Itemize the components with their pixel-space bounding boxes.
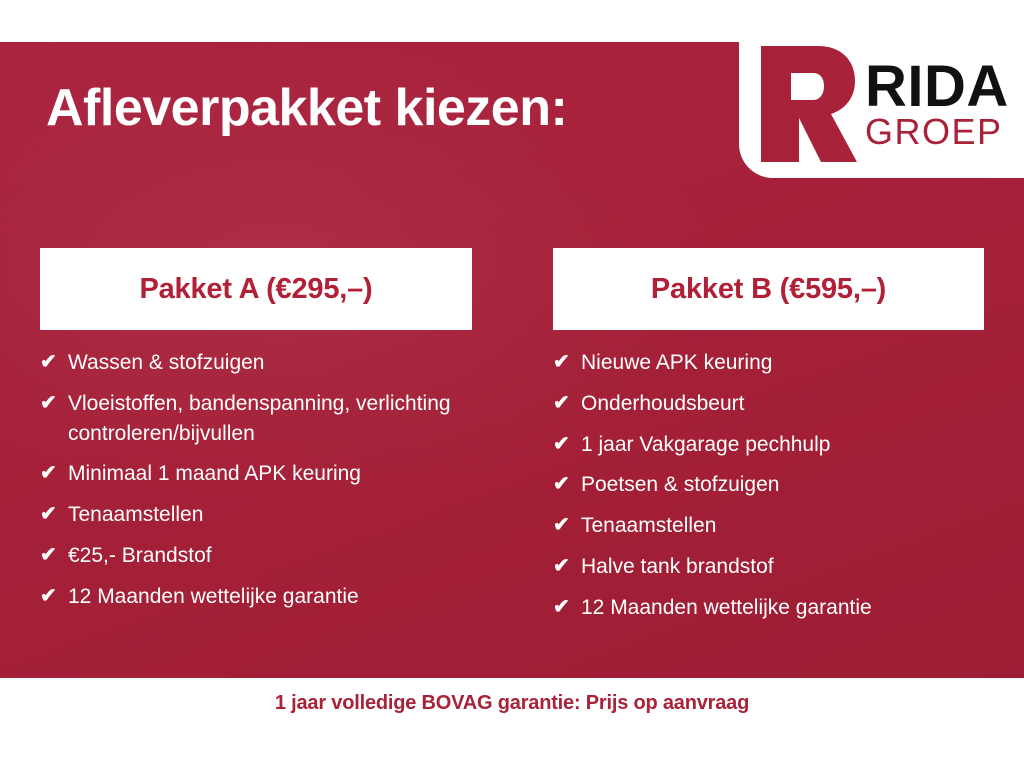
package-a-header: Pakket A (€295,–) <box>40 248 472 330</box>
check-icon: ✔ <box>40 500 68 528</box>
feature-label: Halve tank brandstof <box>581 552 984 582</box>
footer-note: 1 jaar volledige BOVAG garantie: Prijs o… <box>275 692 749 715</box>
list-item: ✔ Poetsen & stofzuigen <box>553 470 984 500</box>
check-icon: ✔ <box>553 430 581 458</box>
check-icon: ✔ <box>553 593 581 621</box>
feature-label: €25,- Brandstof <box>68 541 472 571</box>
check-icon: ✔ <box>553 348 581 376</box>
feature-label: Minimaal 1 maand APK keuring <box>68 459 472 489</box>
package-b-header: Pakket B (€595,–) <box>553 248 984 330</box>
list-item: ✔ 12 Maanden wettelijke garantie <box>553 593 984 623</box>
footer-bar: 1 jaar volledige BOVAG garantie: Prijs o… <box>0 678 1024 768</box>
list-item: ✔ Nieuwe APK keuring <box>553 348 984 378</box>
list-item: ✔ Vloeistoffen, bandenspanning, verlicht… <box>40 389 472 449</box>
brand-name-secondary: GROEP <box>865 115 1009 148</box>
feature-label: Tenaamstellen <box>68 500 472 530</box>
list-item: ✔ €25,- Brandstof <box>40 541 472 571</box>
feature-label: Poetsen & stofzuigen <box>581 470 984 500</box>
feature-label: 1 jaar Vakgarage pechhulp <box>581 430 984 460</box>
brand-logo-panel: RIDA GROEP <box>739 30 1024 178</box>
package-b-feature-list: ✔ Nieuwe APK keuring ✔ Onderhoudsbeurt ✔… <box>553 348 984 623</box>
check-icon: ✔ <box>40 541 68 569</box>
package-column-b: Pakket B (€595,–) ✔ Nieuwe APK keuring ✔… <box>512 248 1024 634</box>
list-item: ✔ 1 jaar Vakgarage pechhulp <box>553 430 984 460</box>
check-icon: ✔ <box>553 389 581 417</box>
list-item: ✔ Wassen & stofzuigen <box>40 348 472 378</box>
feature-label: 12 Maanden wettelijke garantie <box>68 582 472 612</box>
feature-label: Vloeistoffen, bandenspanning, verlichtin… <box>68 389 472 449</box>
list-item: ✔ Onderhoudsbeurt <box>553 389 984 419</box>
check-icon: ✔ <box>40 582 68 610</box>
package-a-feature-list: ✔ Wassen & stofzuigen ✔ Vloeistoffen, ba… <box>40 348 472 612</box>
list-item: ✔ 12 Maanden wettelijke garantie <box>40 582 472 612</box>
package-a-title: Pakket A (€295,–) <box>139 273 372 306</box>
brand-name-primary: RIDA <box>865 60 1009 113</box>
check-icon: ✔ <box>40 459 68 487</box>
package-b-title: Pakket B (€595,–) <box>651 273 886 306</box>
slide-root: RIDA GROEP Afleverpakket kiezen: Pakket … <box>0 0 1024 768</box>
packages-container: Pakket A (€295,–) ✔ Wassen & stofzuigen … <box>0 248 1024 634</box>
list-item: ✔ Halve tank brandstof <box>553 552 984 582</box>
list-item: ✔ Minimaal 1 maand APK keuring <box>40 459 472 489</box>
check-icon: ✔ <box>553 511 581 539</box>
package-column-a: Pakket A (€295,–) ✔ Wassen & stofzuigen … <box>0 248 512 634</box>
feature-label: Onderhoudsbeurt <box>581 389 984 419</box>
check-icon: ✔ <box>40 389 68 417</box>
page-title: Afleverpakket kiezen: <box>46 78 567 138</box>
check-icon: ✔ <box>553 552 581 580</box>
r-monogram-icon <box>755 44 859 164</box>
list-item: ✔ Tenaamstellen <box>553 511 984 541</box>
list-item: ✔ Tenaamstellen <box>40 500 472 530</box>
feature-label: 12 Maanden wettelijke garantie <box>581 593 984 623</box>
check-icon: ✔ <box>40 348 68 376</box>
check-icon: ✔ <box>553 470 581 498</box>
feature-label: Nieuwe APK keuring <box>581 348 984 378</box>
brand-wordmark: RIDA GROEP <box>865 60 1009 148</box>
feature-label: Wassen & stofzuigen <box>68 348 472 378</box>
feature-label: Tenaamstellen <box>581 511 984 541</box>
